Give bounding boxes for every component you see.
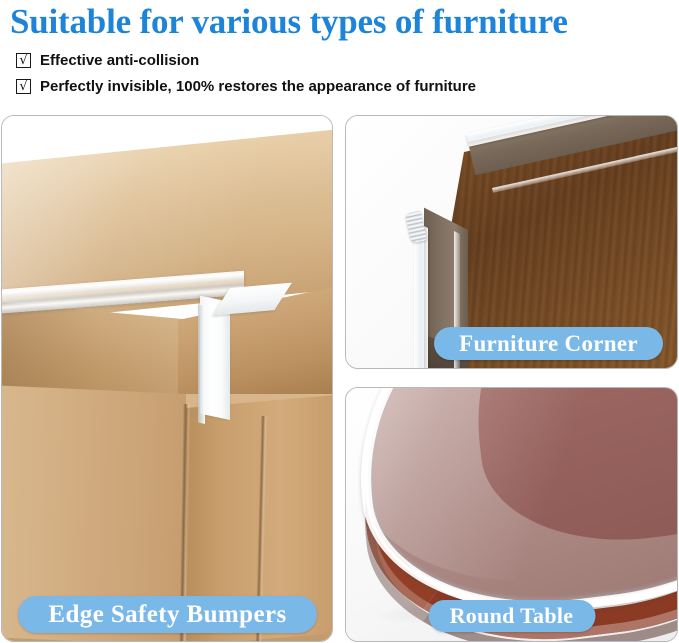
check-square-icon: √ <box>16 79 31 94</box>
panel-furniture-corner[interactable]: Furniture Corner <box>345 115 678 369</box>
feature-list: √ Effective anti-collision √ Perfectly i… <box>6 42 673 95</box>
panel-round-table[interactable]: Round Table <box>345 387 678 642</box>
feature-label: Perfectly invisible, 100% restores the a… <box>40 78 476 95</box>
badge-furniture-corner: Furniture Corner <box>434 327 663 360</box>
panel-edge-safety-bumpers[interactable]: Edge Safety Bumpers <box>1 115 333 642</box>
feature-item-anti-collision: √ Effective anti-collision <box>16 52 673 69</box>
check-square-icon: √ <box>16 53 31 68</box>
page-title: Suitable for various types of furniture <box>6 0 673 42</box>
feature-label: Effective anti-collision <box>40 52 199 69</box>
feature-item-invisible: √ Perfectly invisible, 100% restores the… <box>16 78 673 95</box>
badge-round-table: Round Table <box>428 600 595 632</box>
panel-grid: Edge Safety Bumpers Furniture Corner <box>1 115 678 642</box>
light-oak-cabinet-with-white-edge-bumper-photo <box>2 116 332 641</box>
header: Suitable for various types of furniture … <box>0 0 679 95</box>
badge-edge-safety-bumpers: Edge Safety Bumpers <box>18 596 317 633</box>
